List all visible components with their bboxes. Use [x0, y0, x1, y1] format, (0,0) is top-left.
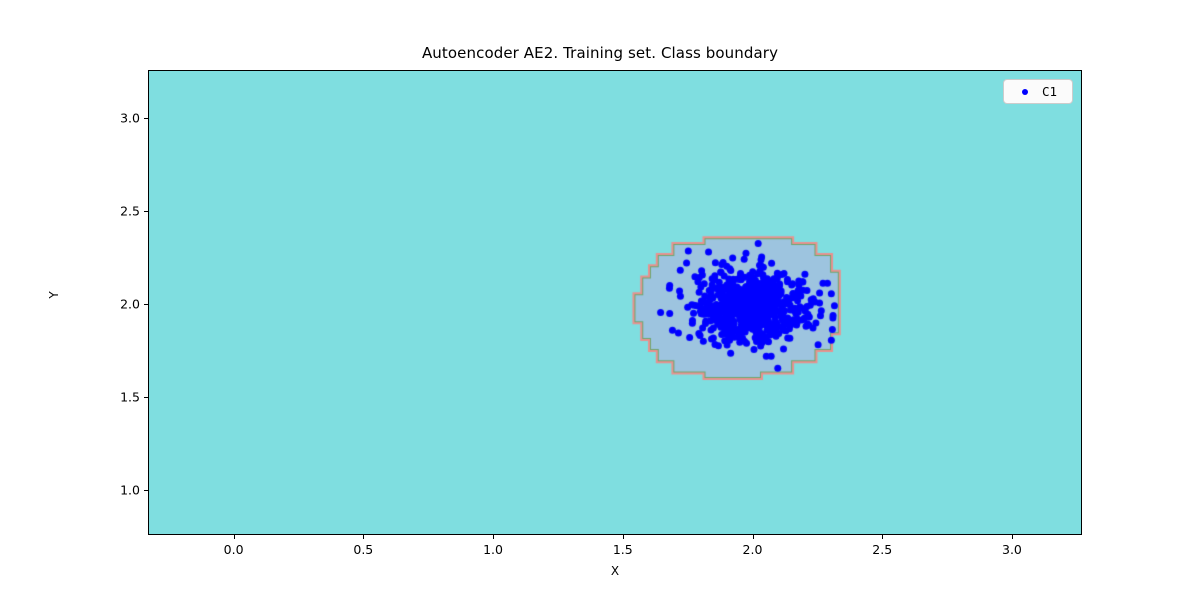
legend-marker-c1-icon	[1022, 89, 1028, 95]
x-tick-mark	[363, 535, 364, 539]
x-tick-mark	[1012, 535, 1013, 539]
y-tick-label: 1.5	[120, 390, 140, 405]
y-tick-mark	[144, 490, 148, 491]
x-axis-label: X	[148, 564, 1082, 578]
x-tick-label: 2.0	[743, 542, 763, 557]
x-tick-label: 0.5	[353, 542, 373, 557]
y-axis-tick-labels: 1.01.52.02.53.0	[100, 0, 140, 600]
y-tick-mark	[144, 211, 148, 212]
plot-area: C1	[148, 70, 1082, 535]
x-tick-label: 0.0	[224, 542, 244, 557]
x-tick-label: 1.0	[483, 542, 503, 557]
y-axis-label: Y	[47, 235, 61, 355]
y-tick-mark	[144, 397, 148, 398]
x-tick-mark	[493, 535, 494, 539]
x-tick-label: 2.5	[872, 542, 892, 557]
y-tick-mark	[144, 118, 148, 119]
figure-canvas: Autoencoder AE2. Training set. Class bou…	[0, 0, 1200, 600]
x-tick-mark	[753, 535, 754, 539]
chart-title: Autoencoder AE2. Training set. Class bou…	[0, 44, 1200, 62]
legend-box[interactable]: C1	[1003, 79, 1073, 104]
legend-label-c1: C1	[1042, 84, 1057, 99]
x-tick-mark	[234, 535, 235, 539]
x-tick-mark	[623, 535, 624, 539]
y-tick-label: 1.0	[120, 483, 140, 498]
y-tick-label: 2.5	[120, 204, 140, 219]
y-tick-label: 3.0	[120, 111, 140, 126]
x-tick-label: 1.5	[613, 542, 633, 557]
scatter-points-layer	[149, 71, 1082, 535]
x-tick-label: 3.0	[1002, 542, 1022, 557]
x-tick-mark	[882, 535, 883, 539]
y-tick-label: 2.0	[120, 297, 140, 312]
y-tick-mark	[144, 304, 148, 305]
